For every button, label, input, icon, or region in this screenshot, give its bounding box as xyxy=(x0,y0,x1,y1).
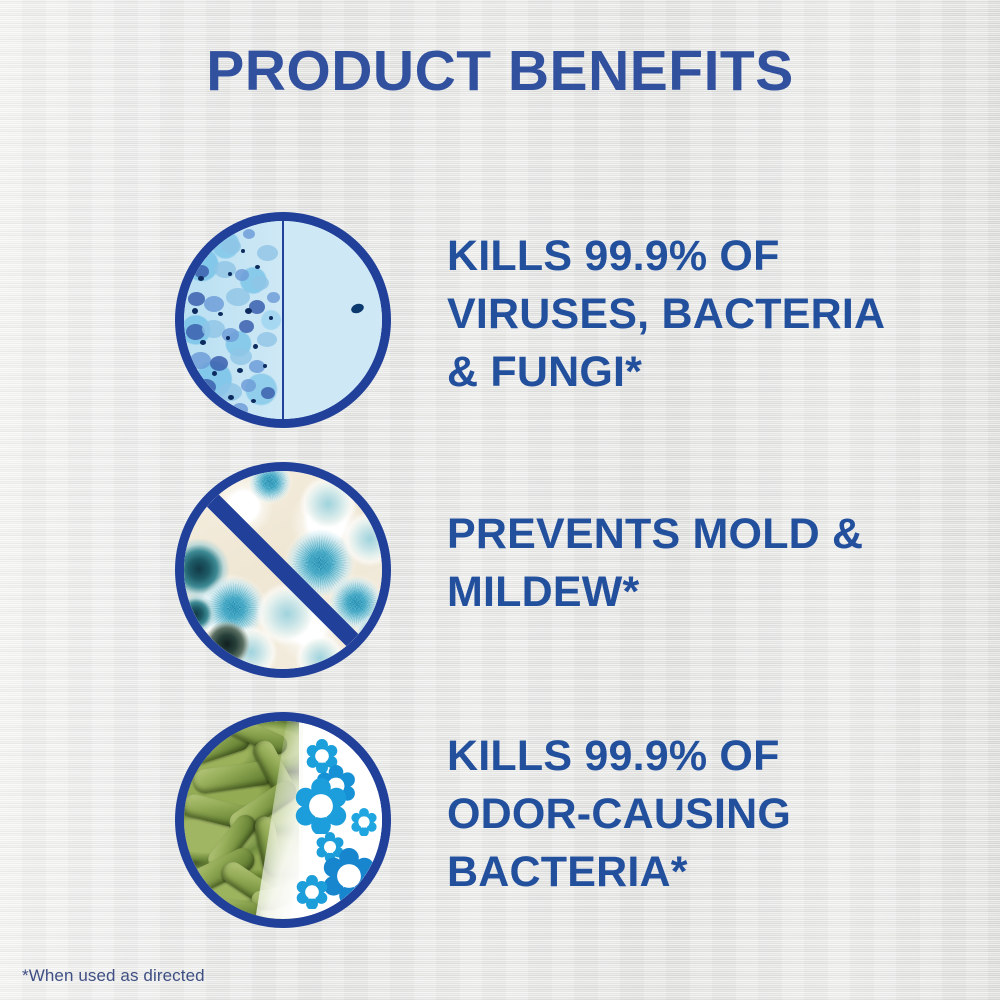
footnote-disclaimer: *When used as directed xyxy=(22,966,205,986)
scent-flower-icon xyxy=(295,875,329,909)
benefit-caption-2: PREVENTS MOLD & MILDEW* xyxy=(447,505,917,621)
caption-line: BACTERIA* xyxy=(447,843,917,901)
benefit-row-3: KILLS 99.9% OF ODOR-CAUSING BACTERIA* xyxy=(0,705,1000,935)
caption-line: KILLS 99.9% OF xyxy=(447,727,917,785)
benefit-caption-3: KILLS 99.9% OF ODOR-CAUSING BACTERIA* xyxy=(447,727,917,901)
germ-field-clean xyxy=(283,221,382,419)
residual-germ-speck xyxy=(350,302,365,315)
caption-line: ODOR-CAUSING xyxy=(447,785,917,843)
split-divider xyxy=(282,221,284,419)
germ-field-dirty xyxy=(184,221,283,419)
scent-flower-icon xyxy=(350,808,378,836)
odor-bacteria-fresh-circle-icon xyxy=(175,712,391,928)
caption-line: MILDEW* xyxy=(447,563,917,621)
caption-line: VIRUSES, BACTERIA xyxy=(447,285,917,343)
caption-line: KILLS 99.9% OF xyxy=(447,227,917,285)
scent-flower-icon xyxy=(321,848,377,904)
product-benefits-infographic: PRODUCT BENEFITS xyxy=(0,0,1000,1000)
benefit-row-2: PREVENTS MOLD & MILDEW* xyxy=(0,455,1000,685)
microscope-germs-split-circle-icon xyxy=(175,212,391,428)
benefit-row-1: KILLS 99.9% OF VIRUSES, BACTERIA & FUNGI… xyxy=(0,205,1000,435)
caption-line: PREVENTS MOLD & xyxy=(447,505,917,563)
benefit-caption-1: KILLS 99.9% OF VIRUSES, BACTERIA & FUNGI… xyxy=(447,227,917,401)
page-title: PRODUCT BENEFITS xyxy=(0,38,1000,104)
caption-line: & FUNGI* xyxy=(447,343,917,401)
no-mold-mildew-circle-icon xyxy=(175,462,391,678)
scent-flower-icon xyxy=(293,778,349,834)
